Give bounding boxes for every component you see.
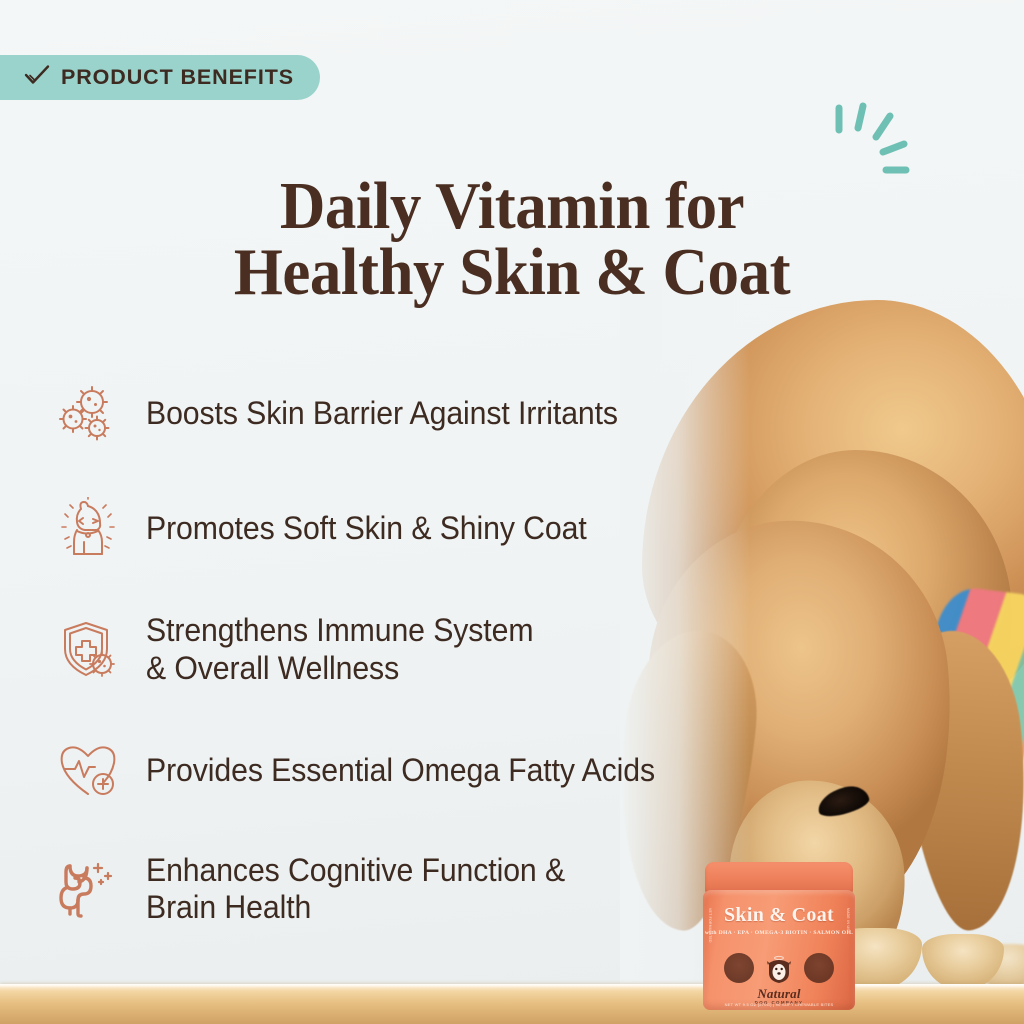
jar-seal-row [703,948,855,988]
benefit-label: Boosts Skin Barrier Against Irritants [146,395,618,432]
product-benefits-badge: PRODUCT BENEFITS [0,55,320,100]
jar-net-weight: NET WT 9.5 OZ (270G) | 90 SOFT CHEWABLE … [703,1002,855,1007]
benefit-item: Promotes Soft Skin & Shiny Coat [52,470,822,587]
jar-seal-right [804,953,834,983]
badge-label: PRODUCT BENEFITS [61,65,294,90]
benefit-item: Boosts Skin Barrier Against Irritants [52,358,822,470]
check-icon [24,64,50,91]
bulldog-logo-icon [762,950,796,986]
benefits-list: Boosts Skin Barrier Against Irritants [52,358,822,949]
dog-shine-icon [52,493,124,565]
benefit-label: Strengthens Immune System & Overall Well… [146,612,533,686]
heart-pulse-icon [52,735,124,807]
benefit-item: Strengthens Immune System & Overall Well… [52,587,822,712]
shield-cross-icon [52,614,124,686]
benefit-item: Enhances Cognitive Function & Brain Heal… [52,829,822,949]
benefit-label: Promotes Soft Skin & Shiny Coat [146,510,587,547]
benefit-label: Enhances Cognitive Function & Brain Heal… [146,852,565,926]
germs-icon [52,378,124,450]
infographic-canvas: VET FORMULATED MADE IN USA Skin & Coat w… [0,0,1024,1024]
sparkle-burst-icon [828,100,928,200]
headline-line-1: Daily Vitamin for [280,169,744,243]
intestine-icon [52,853,124,925]
wooden-table-surface [0,984,1024,1024]
headline-line-2: Healthy Skin & Coat [31,239,994,305]
benefit-item: Provides Essential Omega Fatty Acids [52,712,822,829]
benefit-label: Provides Essential Omega Fatty Acids [146,752,655,789]
jar-seal-left [724,953,754,983]
